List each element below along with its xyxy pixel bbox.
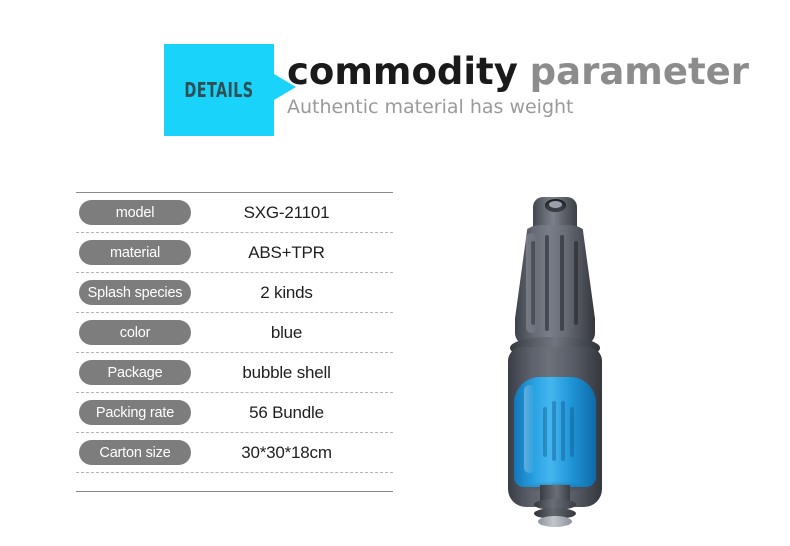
table-row: material ABS+TPR <box>76 233 393 273</box>
spec-label-pill: Packing rate <box>79 400 191 425</box>
spec-label-cell: model <box>76 200 194 225</box>
spec-label-pill: Carton size <box>79 440 191 465</box>
spec-value: 2 kinds <box>194 283 393 303</box>
spec-label-cell: Packing rate <box>76 400 194 425</box>
table-row: Splash species 2 kinds <box>76 273 393 313</box>
title-block: commodity parameter Authentic material h… <box>287 50 687 118</box>
nozzle-tip-opening-inner <box>549 201 562 208</box>
table-row: color blue <box>76 313 393 353</box>
grip-rib <box>552 401 556 461</box>
spec-label-cell: Package <box>76 360 194 385</box>
cone-rib <box>545 235 549 331</box>
page-header: DETAILS commodity parameter Authentic ma… <box>164 44 684 136</box>
table-row: Package bubble shell <box>76 353 393 393</box>
spec-label-pill: Package <box>79 360 191 385</box>
spec-label-pill: color <box>79 320 191 345</box>
cone-rib <box>560 235 564 331</box>
spec-label-pill: Splash species <box>79 280 191 305</box>
grip-rib <box>570 407 574 457</box>
cone-highlight <box>526 233 538 333</box>
cone-rib <box>574 241 578 325</box>
product-image-spray-nozzle <box>470 185 670 525</box>
spec-label-cell: Splash species <box>76 280 194 305</box>
title-secondary: parameter <box>530 50 749 93</box>
spec-value: 30*30*18cm <box>194 443 393 463</box>
spec-value: ABS+TPR <box>194 243 393 263</box>
page-subtitle: Authentic material has weight <box>287 96 687 118</box>
spec-label-cell: Carton size <box>76 440 194 465</box>
spec-label-cell: material <box>76 240 194 265</box>
connector-ring-light <box>538 516 572 527</box>
table-row: Packing rate 56 Bundle <box>76 393 393 433</box>
specification-table: model SXG-21101 material ABS+TPR Splash … <box>76 192 393 492</box>
table-row: model SXG-21101 <box>76 193 393 233</box>
table-row: Carton size 30*30*18cm <box>76 433 393 473</box>
spec-value: SXG-21101 <box>194 203 393 223</box>
grip-rib <box>543 407 547 457</box>
spec-label-cell: color <box>76 320 194 345</box>
page-title: commodity parameter <box>287 50 687 94</box>
spec-value: bubble shell <box>194 363 393 383</box>
details-badge-label: DETAILS <box>184 78 253 102</box>
details-badge: DETAILS <box>164 44 274 136</box>
grip-rib <box>561 401 565 461</box>
spec-label-pill: material <box>79 240 191 265</box>
title-main: commodity <box>287 50 518 93</box>
grip-highlight <box>524 385 535 473</box>
spec-value: 56 Bundle <box>194 403 393 423</box>
spec-label-pill: model <box>79 200 191 225</box>
spec-value: blue <box>194 323 393 343</box>
